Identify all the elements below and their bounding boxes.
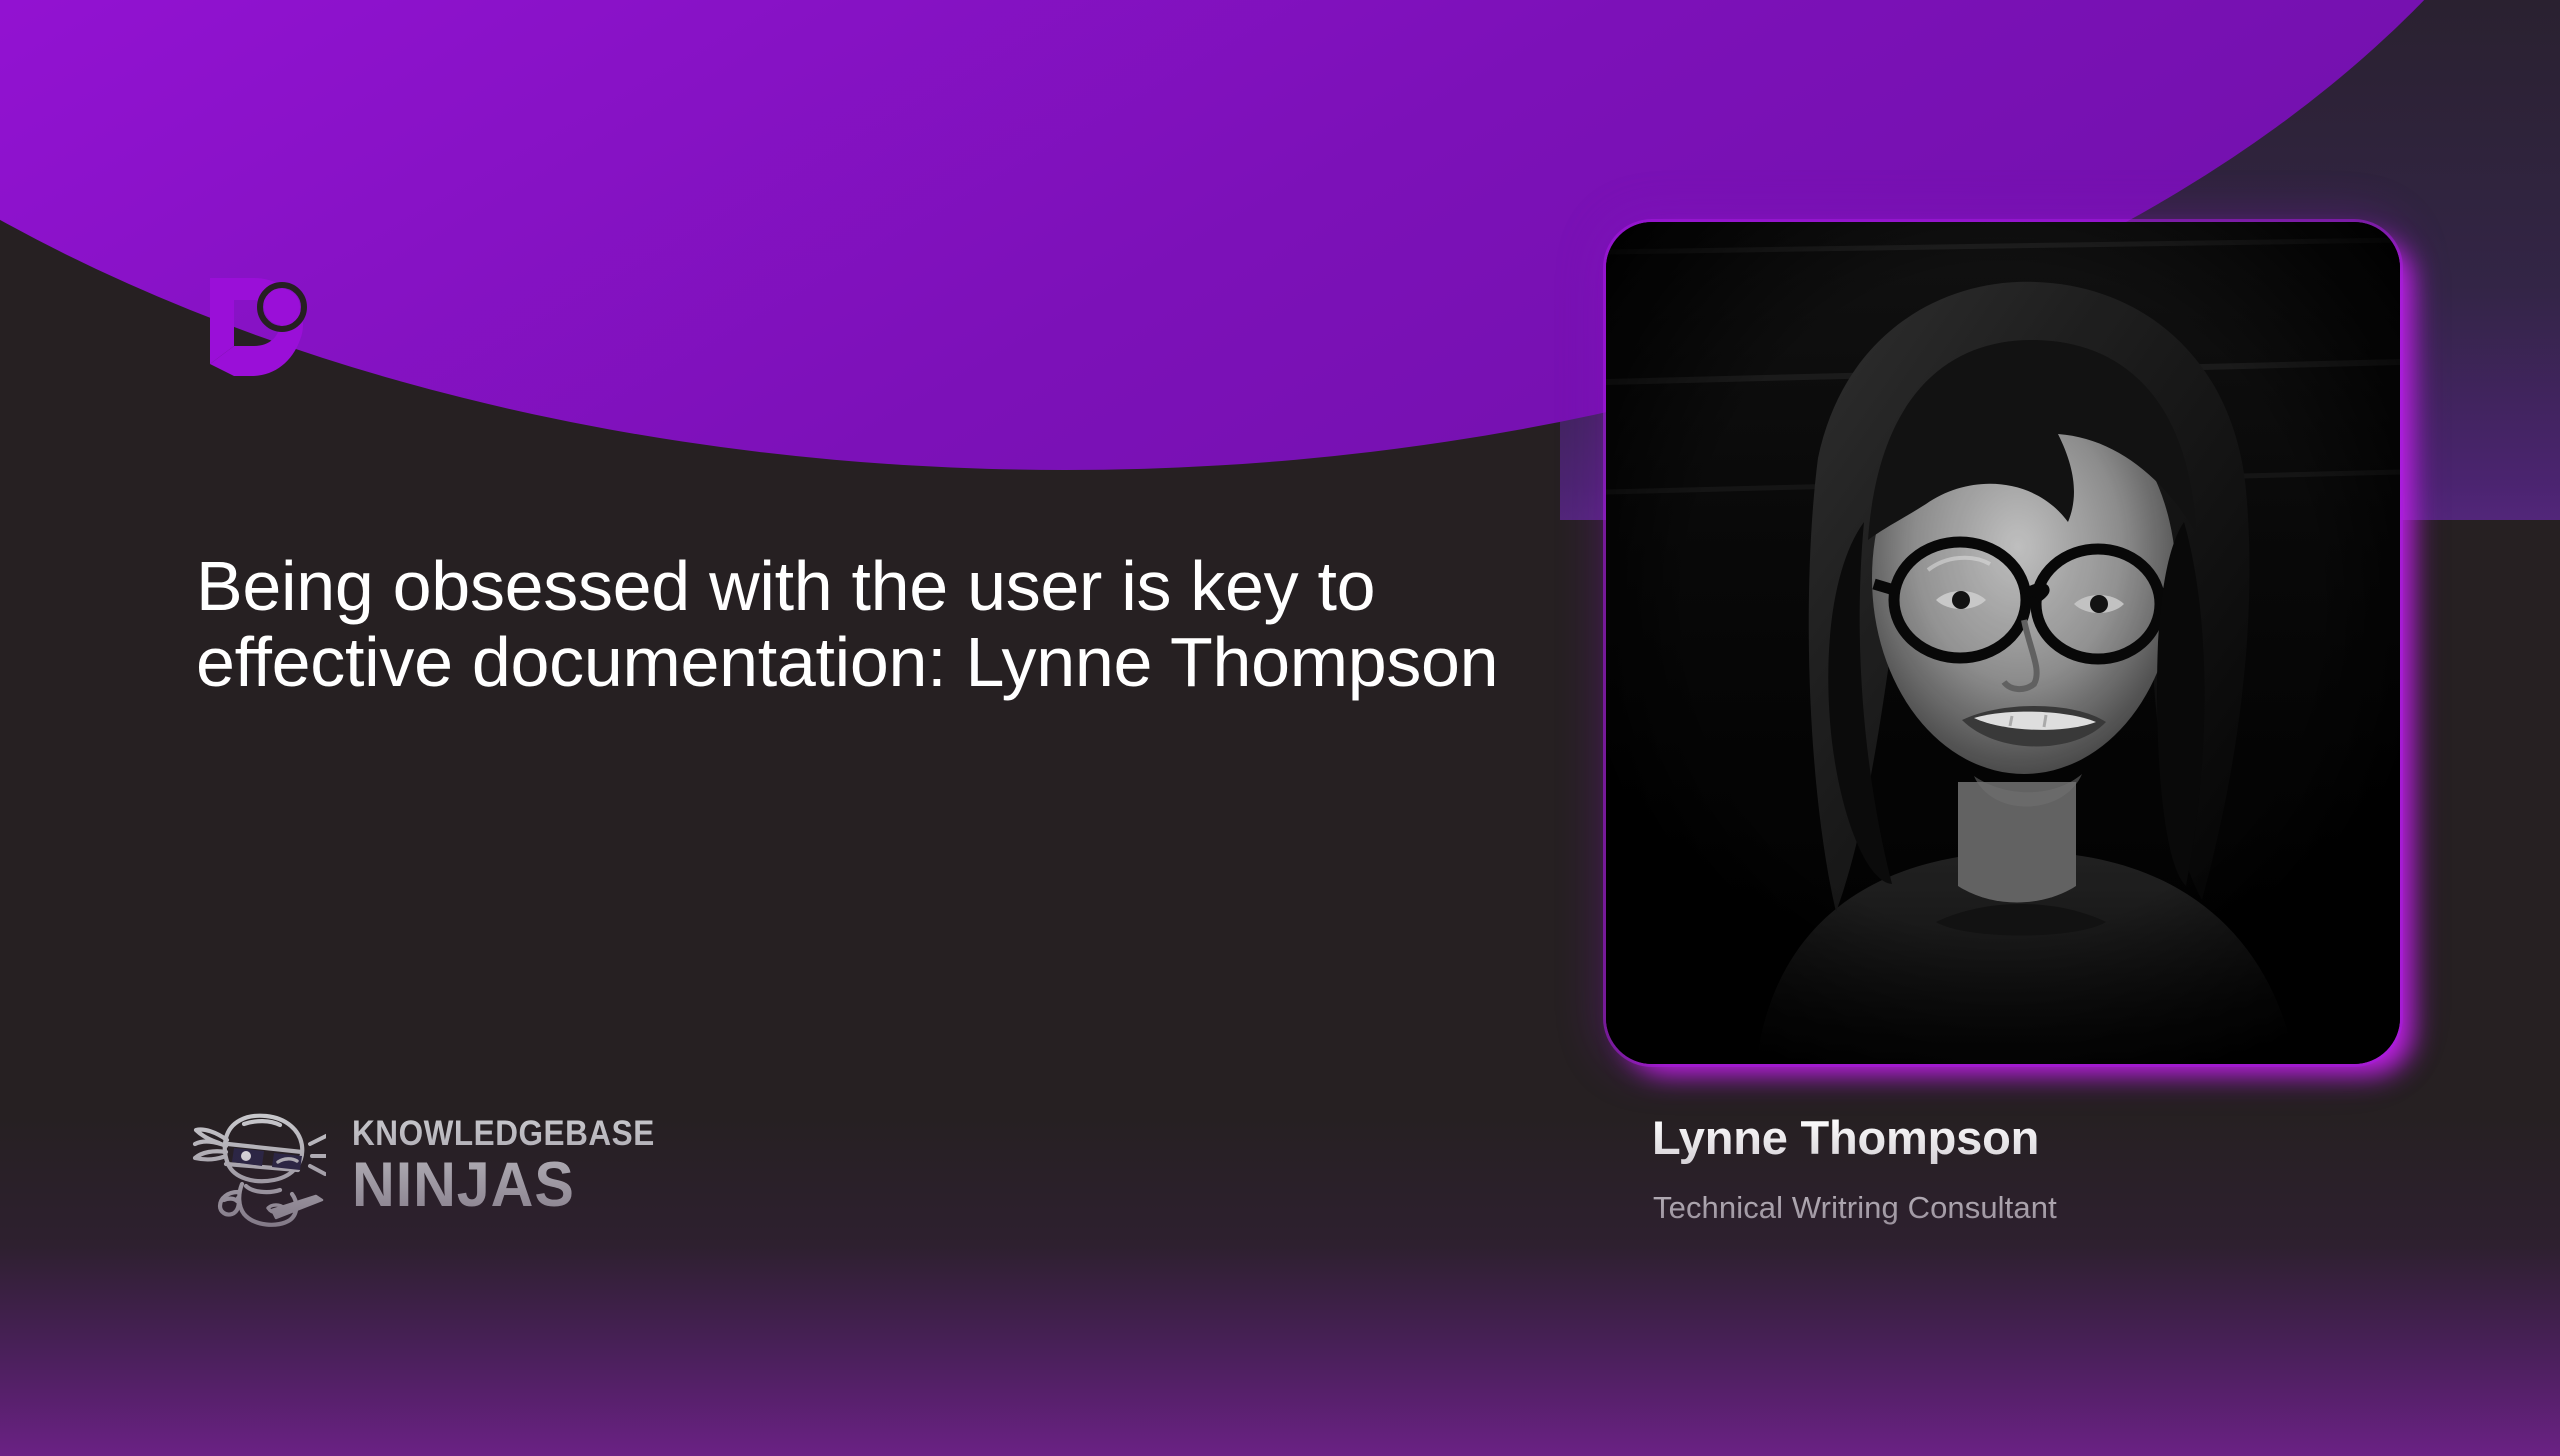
bottom-purple-gradient	[0, 1116, 2560, 1456]
avatar	[1606, 222, 2400, 1064]
document360-d-logo-icon	[196, 272, 308, 380]
page-title: Being obsessed with the user is key to e…	[196, 548, 1536, 701]
social-card-canvas: Being obsessed with the user is key to e…	[0, 0, 2560, 1456]
portrait-photo	[1606, 222, 2400, 1064]
